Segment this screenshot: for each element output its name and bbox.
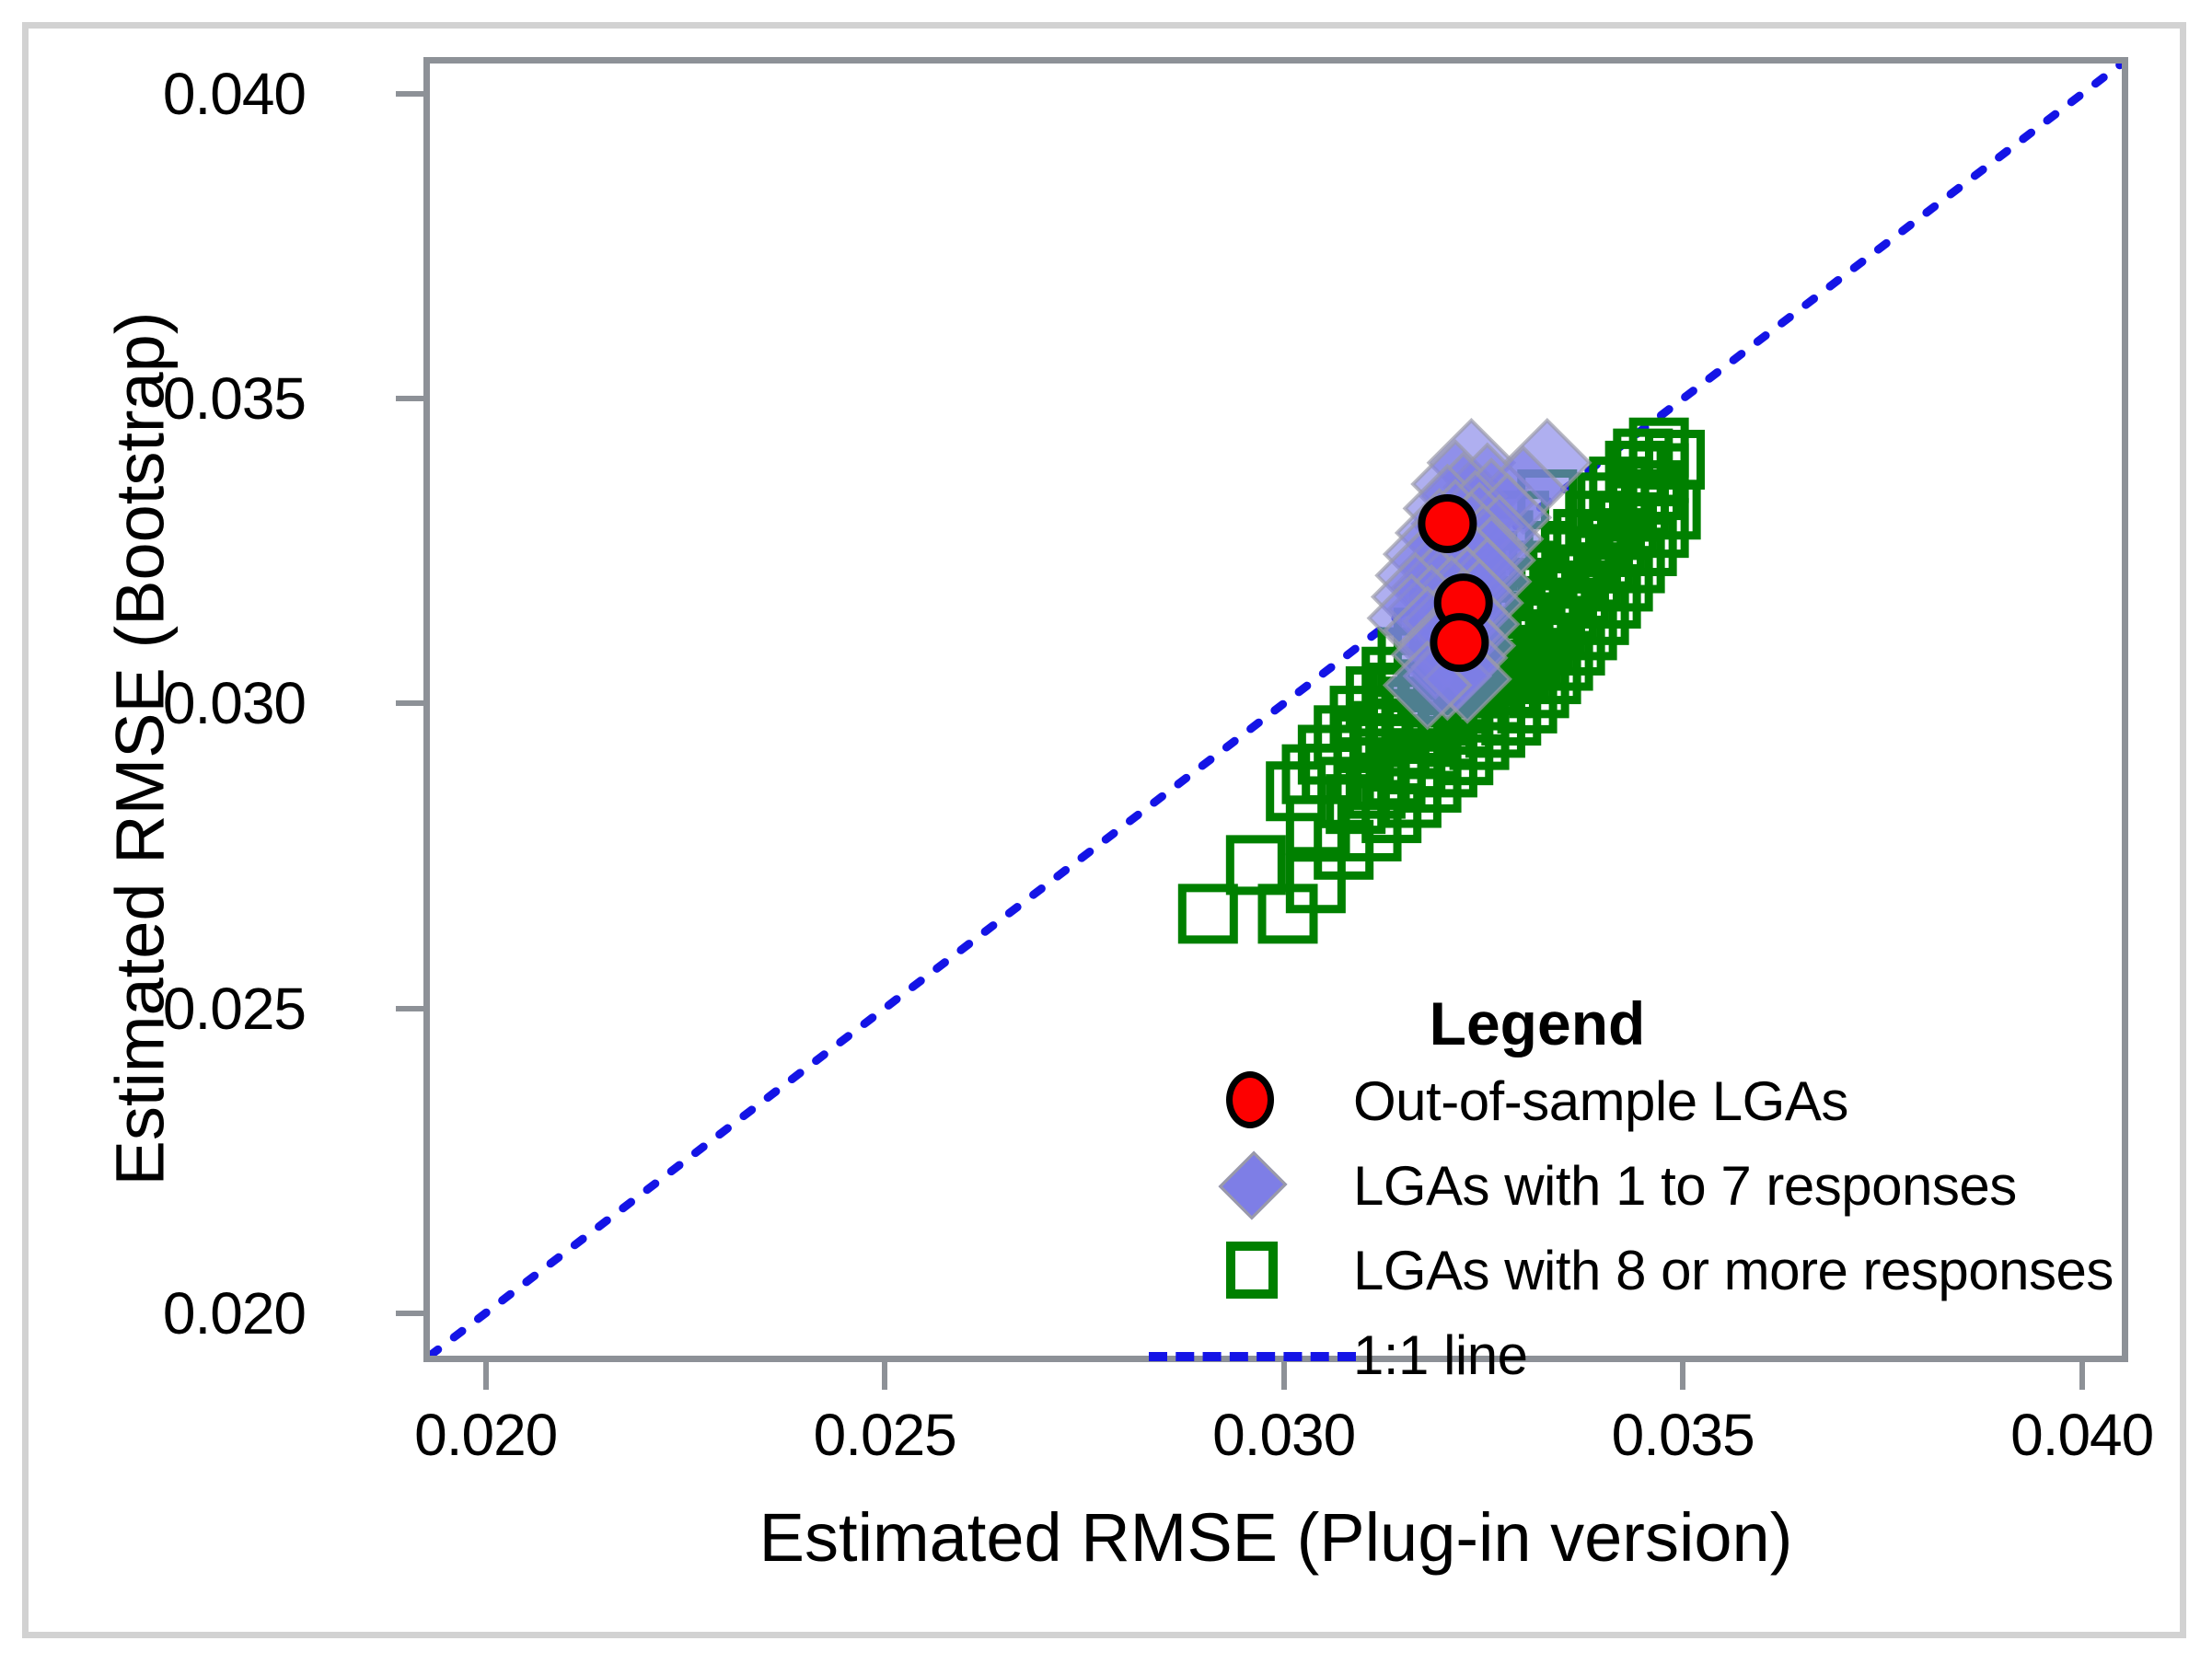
x-tick-label: 0.035 [1612, 1401, 1755, 1469]
legend-entry-1-to-7: LGAs with 1 to 7 responses [1169, 1146, 2108, 1225]
legend-label-1-to-7: LGAs with 1 to 7 responses [1353, 1154, 2017, 1218]
legend-label-8-or-more: LGAs with 8 or more responses [1353, 1239, 2114, 1302]
legend-key-square-icon [1169, 1231, 1353, 1310]
circle-marker-icon [1226, 1071, 1274, 1128]
legend-key-diamond-icon [1169, 1146, 1353, 1225]
diamond-marker-icon [1218, 1151, 1287, 1220]
square-marker-icon [1226, 1242, 1278, 1299]
legend: Legend Out-of-sample LGAs LGAs with 1 to… [1169, 992, 2108, 1394]
x-tick-label: 0.020 [414, 1401, 557, 1469]
legend-entry-out-of-sample: Out-of-sample LGAs [1169, 1061, 2108, 1140]
x-axis-title: Estimated RMSE (Plug-in version) [423, 1498, 2128, 1577]
x-tick-label: 0.030 [1212, 1401, 1355, 1469]
legend-entry-one-to-one-line: 1:1 line [1169, 1315, 2108, 1394]
dashed-line-icon [1149, 1352, 1356, 1361]
legend-key-circle-icon [1169, 1061, 1353, 1140]
legend-label-one-to-one-line: 1:1 line [1353, 1323, 1527, 1387]
legend-key-dashed-line-icon [1169, 1315, 1353, 1394]
legend-title: Legend [1169, 992, 1905, 1056]
x-tick-label: 0.025 [814, 1401, 956, 1469]
x-axis-ticks: 0.0200.0250.0300.0350.040 [0, 0, 2212, 1664]
x-tick-mark [882, 1362, 887, 1390]
y-axis-title: Estimated RMSE (Bootstrap) [101, 105, 180, 1393]
legend-entry-8-or-more: LGAs with 8 or more responses [1169, 1231, 2108, 1310]
x-tick-mark [483, 1362, 489, 1390]
chart-page: 0.0200.0250.0300.0350.040 0.0200.0250.03… [0, 0, 2212, 1664]
legend-label-out-of-sample: Out-of-sample LGAs [1353, 1069, 1848, 1133]
x-tick-label: 0.040 [2010, 1401, 2153, 1469]
